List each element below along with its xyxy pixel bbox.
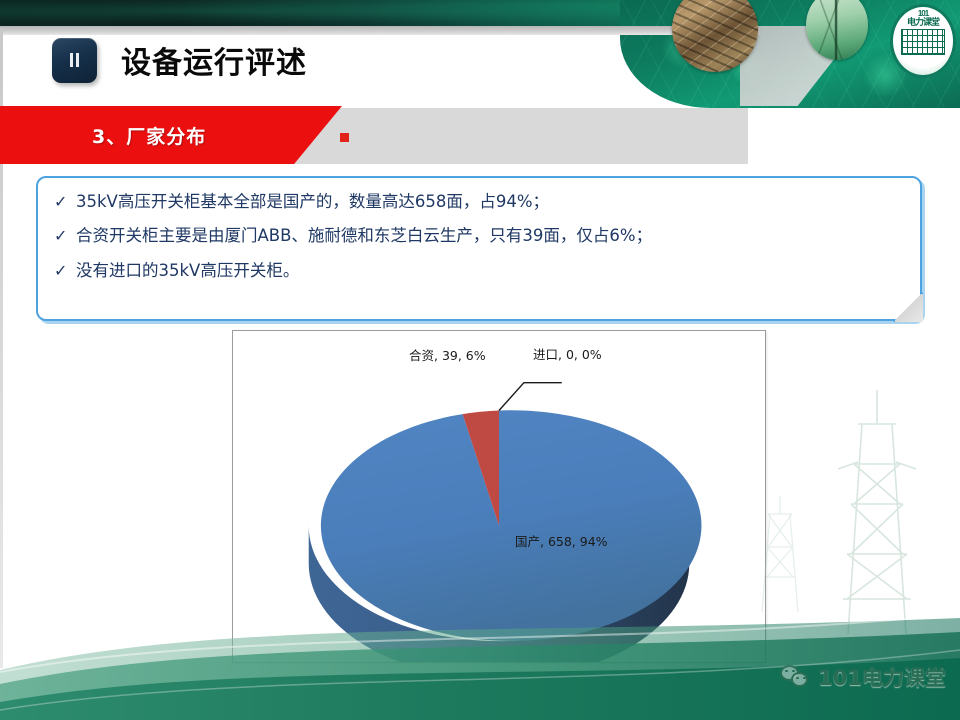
list-item-text: 35kV高压开关柜基本全部是国产的，数量高达658面，占94%； [76,191,549,213]
brand-logo: 101 电力课堂 [890,4,956,78]
list-item-text: 合资开关柜主要是由厦门ABB、施耐德和东芝白云生产，只有39面，仅占6%； [76,225,652,247]
pie-slice-domestic [321,410,702,641]
brand-logo-gate-icon [901,29,945,55]
check-icon: ✓ [54,225,76,247]
pie-label-import: 进口, 0, 0% [533,344,602,363]
check-icon: ✓ [54,191,76,213]
bullet-panel: ✓ 35kV高压开关柜基本全部是国产的，数量高达658面，占94%； ✓ 合资开… [36,176,922,321]
pause-icon [52,38,97,83]
pylon-watermark-icon [818,384,936,634]
list-item: ✓ 35kV高压开关柜基本全部是国产的，数量高达658面，占94%； [54,191,902,213]
panel-fold-corner [893,292,923,322]
watermark: 101电力课堂 [780,662,946,692]
section-banner: 3、厂家分布 [0,106,342,164]
page-title: 设备运行评述 [121,38,307,82]
list-item-text: 没有进口的35kV高压开关柜。 [76,260,299,282]
title-row: 设备运行评述 [0,32,760,88]
check-icon: ✓ [54,260,76,282]
pie-label-domestic: 国产, 658, 94% [515,531,608,550]
leader-line-import [499,383,562,411]
wechat-icon [780,665,810,689]
section-title: 3、厂家分布 [92,122,206,149]
list-item: ✓ 没有进口的35kV高压开关柜。 [54,260,902,282]
brand-logo-text: 电力课堂 [907,18,939,27]
pylon-watermark-small-icon [750,492,810,612]
pie-label-joint-venture: 合资, 39, 6% [409,345,486,364]
red-square-bullet-icon [340,133,349,142]
header-photo-pylon [806,0,868,60]
watermark-text: 101电力课堂 [818,662,946,692]
slide-canvas: 101 电力课堂 设备运行评述 3、厂家分布 ✓ 35kV高压开关柜基本全部是国… [0,0,960,720]
list-item: ✓ 合资开关柜主要是由厦门ABB、施耐德和东芝白云生产，只有39面，仅占6%； [54,225,902,247]
